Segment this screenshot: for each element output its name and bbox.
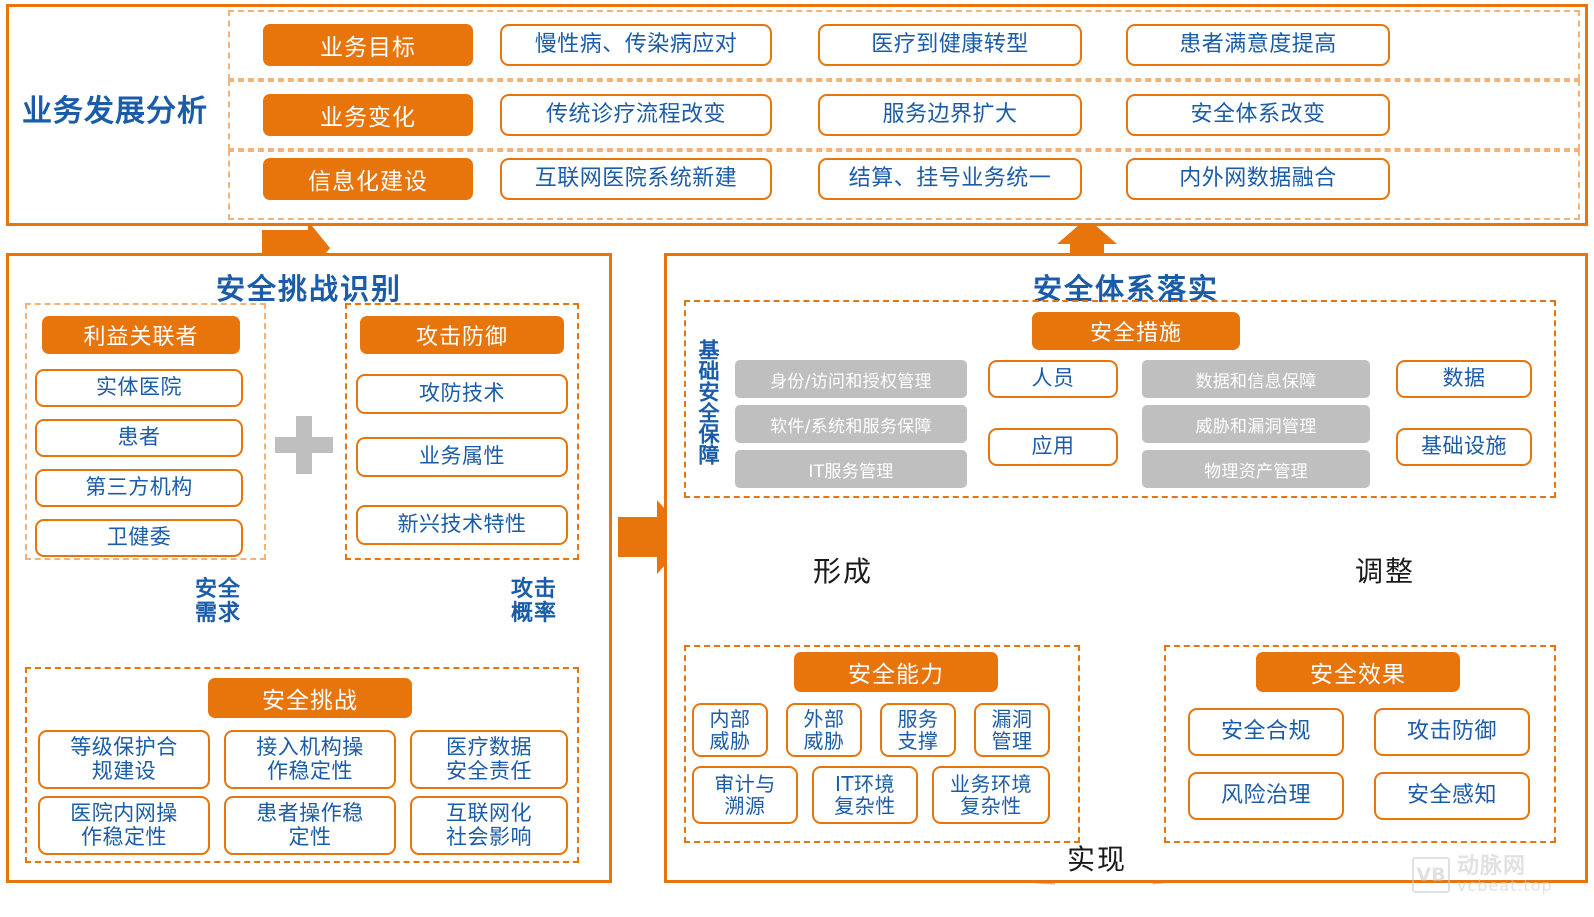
watermark-logo: VB xyxy=(1412,857,1450,893)
challenge-item-3[interactable]: 医疗数据 安全责任 xyxy=(410,730,568,789)
capability-item-3-line1: 服务 xyxy=(898,708,939,730)
baseline-grey-left-1: 身份/访问和授权管理 xyxy=(735,360,967,398)
arrow-label-attack-probability: 攻击 概率 xyxy=(492,578,576,626)
baseline-grey-right-1: 数据和信息保障 xyxy=(1142,360,1370,398)
capability-item-7-line2: 复杂性 xyxy=(960,795,1022,817)
capability-item-7-line1: 业务环境 xyxy=(950,773,1032,795)
flow-label-adjust: 调整 xyxy=(1330,550,1440,590)
capability-item-2[interactable]: 外部 威胁 xyxy=(786,703,862,757)
challenge-item-6-line1: 互联网化 xyxy=(446,802,532,826)
challenge-item-5-line1: 患者操作稳 xyxy=(256,802,364,826)
stakeholders-item-3[interactable]: 第三方机构 xyxy=(35,469,243,507)
baseline-blue-left-2[interactable]: 应用 xyxy=(988,428,1118,466)
security-measures-head[interactable]: 安全措施 xyxy=(1032,312,1240,350)
challenge-item-2-line2: 作稳定性 xyxy=(267,760,353,784)
left-panel-title: 安全挑战识别 xyxy=(6,266,612,308)
stakeholders-item-1[interactable]: 实体医院 xyxy=(35,369,243,407)
capability-item-6-line2: 复杂性 xyxy=(834,795,896,817)
top-row-2-head[interactable]: 业务变化 xyxy=(263,94,473,136)
arrow-label-attack-probability-line1: 攻击 xyxy=(492,578,576,602)
capability-item-5-line2: 溯源 xyxy=(725,795,766,817)
capability-item-4-line2: 管理 xyxy=(992,730,1033,752)
effect-item-3[interactable]: 风险治理 xyxy=(1188,772,1344,820)
capability-head[interactable]: 安全能力 xyxy=(794,652,998,692)
capability-item-3-line2: 支撑 xyxy=(898,730,939,752)
challenge-item-1-line1: 等级保护合 xyxy=(70,736,178,760)
challenge-item-4-line1: 医院内网操 xyxy=(70,802,178,826)
flow-label-realize: 实现 xyxy=(1042,838,1152,878)
effect-item-1[interactable]: 安全合规 xyxy=(1188,708,1344,756)
challenge-item-1[interactable]: 等级保护合 规建设 xyxy=(38,730,210,789)
baseline-grey-left-3: IT服务管理 xyxy=(735,450,967,488)
capability-item-1-line1: 内部 xyxy=(710,708,751,730)
capability-item-3[interactable]: 服务 支撑 xyxy=(880,703,956,757)
page-title: 业务发展分析 xyxy=(22,86,232,130)
baseline-grey-left-2: 软件/系统和服务保障 xyxy=(735,405,967,443)
capability-item-1-line2: 威胁 xyxy=(710,730,751,752)
top-row-1-head[interactable]: 业务目标 xyxy=(263,24,473,66)
challenge-item-5-line2: 定性 xyxy=(289,826,332,850)
challenge-item-4[interactable]: 医院内网操 作稳定性 xyxy=(38,796,210,855)
stakeholders-head[interactable]: 利益关联者 xyxy=(42,316,240,354)
baseline-grey-right-2: 威胁和漏洞管理 xyxy=(1142,405,1370,443)
effect-item-4[interactable]: 安全感知 xyxy=(1374,772,1530,820)
challenge-item-6[interactable]: 互联网化 社会影响 xyxy=(410,796,568,855)
effect-head[interactable]: 安全效果 xyxy=(1256,652,1460,692)
stakeholders-item-4[interactable]: 卫健委 xyxy=(35,519,243,557)
top-row-1-item-3[interactable]: 患者满意度提高 xyxy=(1126,24,1390,66)
effect-item-2[interactable]: 攻击防御 xyxy=(1374,708,1530,756)
baseline-blue-right-1[interactable]: 数据 xyxy=(1396,360,1532,398)
capability-item-2-line1: 外部 xyxy=(804,708,845,730)
capability-item-6[interactable]: IT环境 复杂性 xyxy=(812,766,918,824)
top-row-3-item-1[interactable]: 互联网医院系统新建 xyxy=(500,158,772,200)
capability-item-5[interactable]: 审计与 溯源 xyxy=(692,766,798,824)
baseline-blue-left-1[interactable]: 人员 xyxy=(988,360,1118,398)
arrow-label-security-need-line2: 需求 xyxy=(176,602,260,626)
stakeholders-item-2[interactable]: 患者 xyxy=(35,419,243,457)
challenge-item-6-line2: 社会影响 xyxy=(446,826,532,850)
watermark-cn: 动脉网 xyxy=(1457,855,1553,878)
challenge-item-5[interactable]: 患者操作稳 定性 xyxy=(224,796,396,855)
baseline-security-vertical-label: 基础安全保障 xyxy=(692,314,718,490)
plus-icon xyxy=(275,416,333,474)
flow-label-form: 形成 xyxy=(788,550,898,590)
top-row-1-item-2[interactable]: 医疗到健康转型 xyxy=(818,24,1082,66)
challenge-item-2[interactable]: 接入机构操 作稳定性 xyxy=(224,730,396,789)
challenge-item-3-line1: 医疗数据 xyxy=(446,736,532,760)
top-row-3-item-3[interactable]: 内外网数据融合 xyxy=(1126,158,1390,200)
capability-item-1[interactable]: 内部 威胁 xyxy=(692,703,768,757)
attack-defense-item-1[interactable]: 攻防技术 xyxy=(356,374,568,414)
baseline-blue-right-2[interactable]: 基础设施 xyxy=(1396,428,1532,466)
watermark: VB 动脉网 vcbeat.top xyxy=(1412,852,1582,898)
arrow-label-security-need-line1: 安全 xyxy=(176,578,260,602)
top-row-1-item-1[interactable]: 慢性病、传染病应对 xyxy=(500,24,772,66)
challenge-item-2-line1: 接入机构操 xyxy=(256,736,364,760)
top-row-3-head[interactable]: 信息化建设 xyxy=(263,158,473,200)
capability-item-4-line1: 漏洞 xyxy=(992,708,1033,730)
top-row-2-item-1[interactable]: 传统诊疗流程改变 xyxy=(500,94,772,136)
attack-defense-item-2[interactable]: 业务属性 xyxy=(356,437,568,477)
arrow-label-security-need: 安全 需求 xyxy=(176,578,260,626)
capability-item-4[interactable]: 漏洞 管理 xyxy=(974,703,1050,757)
challenge-item-1-line2: 规建设 xyxy=(92,760,157,784)
attack-defense-head[interactable]: 攻击防御 xyxy=(360,316,564,354)
arrow-label-attack-probability-line2: 概率 xyxy=(492,602,576,626)
capability-item-2-line2: 威胁 xyxy=(804,730,845,752)
attack-defense-item-3[interactable]: 新兴技术特性 xyxy=(356,505,568,545)
challenge-item-4-line2: 作稳定性 xyxy=(81,826,167,850)
capability-item-6-line1: IT环境 xyxy=(835,773,895,795)
top-row-2-item-2[interactable]: 服务边界扩大 xyxy=(818,94,1082,136)
challenge-item-3-line2: 安全责任 xyxy=(446,760,532,784)
capability-item-5-line1: 审计与 xyxy=(714,773,776,795)
top-row-2-item-3[interactable]: 安全体系改变 xyxy=(1126,94,1390,136)
capability-item-7[interactable]: 业务环境 复杂性 xyxy=(932,766,1050,824)
top-row-3-item-2[interactable]: 结算、挂号业务统一 xyxy=(818,158,1082,200)
watermark-en: vcbeat.top xyxy=(1457,878,1553,895)
baseline-grey-right-3: 物理资产管理 xyxy=(1142,450,1370,488)
challenges-head[interactable]: 安全挑战 xyxy=(208,678,412,718)
diagram-canvas: 业务发展分析 业务目标 慢性病、传染病应对 医疗到健康转型 患者满意度提高 业务… xyxy=(0,0,1594,917)
